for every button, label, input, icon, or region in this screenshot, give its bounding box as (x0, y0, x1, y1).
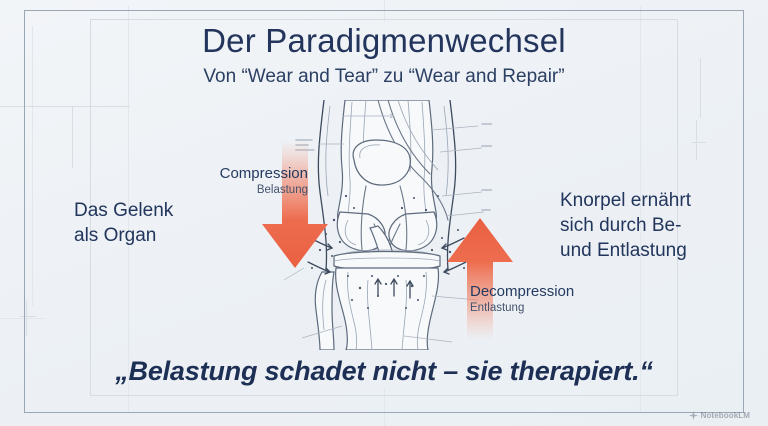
decompression-caption: Entlastung (470, 301, 620, 316)
slide-canvas: Der Paradigmenwechsel Von “Wear and Tear… (0, 0, 768, 426)
decompression-label: Decompression Entlastung (470, 283, 620, 316)
decompression-arrow-icon (443, 218, 517, 340)
right-annotation-line1: Knorpel ernährt (560, 188, 735, 213)
sparkle-icon (689, 411, 698, 420)
decompression-title: Decompression (470, 283, 620, 301)
page-subtitle: Von “Wear and Tear” zu “Wear and Repair” (0, 66, 768, 88)
left-annotation-line1: Das Gelenk (74, 198, 234, 223)
right-annotation: Knorpel ernährt sich durch Be- und Entla… (560, 188, 735, 263)
compression-label: Compression Belastung (178, 165, 308, 198)
key-quote: „Belastung schadet nicht – sie therapier… (0, 356, 768, 387)
left-annotation-line2: als Organ (74, 223, 234, 248)
right-annotation-line3: und Entlastung (560, 238, 735, 263)
page-title: Der Paradigmenwechsel (0, 22, 768, 60)
compression-title: Compression (178, 165, 308, 183)
watermark-label: NotebookLM (701, 411, 750, 420)
notebooklm-watermark: NotebookLM (689, 411, 750, 420)
compression-arrow-icon (258, 140, 332, 270)
right-annotation-line2: sich durch Be- (560, 213, 735, 238)
left-annotation: Das Gelenk als Organ (74, 198, 234, 248)
compression-caption: Belastung (178, 183, 308, 198)
